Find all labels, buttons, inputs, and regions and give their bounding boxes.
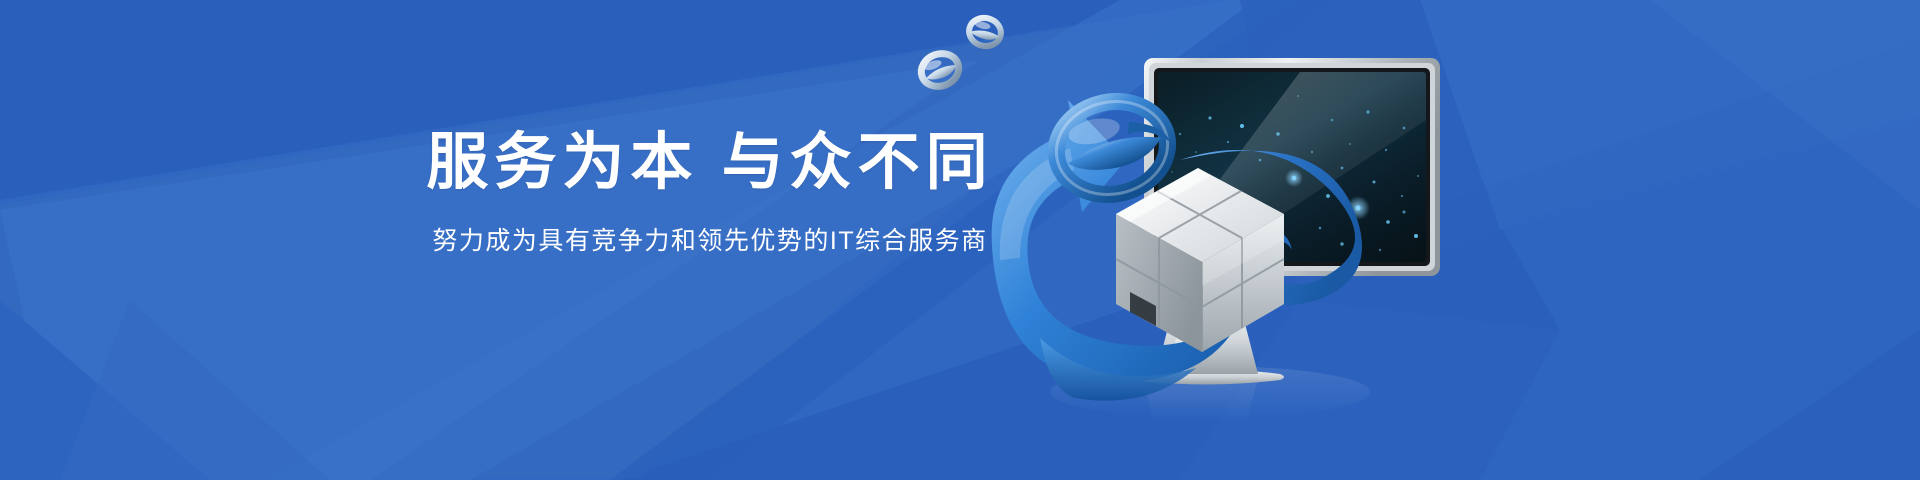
page-title: 服务为本 与众不同 <box>390 126 1030 199</box>
hero-banner: 服务为本 与众不同 努力成为具有竞争力和领先优势的IT综合服务商 <box>0 0 1920 480</box>
e-logo-small-top <box>966 15 1004 50</box>
e-logo-small-upper <box>917 48 964 91</box>
banner-copy: 服务为本 与众不同 努力成为具有竞争力和领先优势的IT综合服务商 <box>390 126 1030 258</box>
banner-subtitle: 努力成为具有竞争力和领先优势的IT综合服务商 <box>390 225 1030 258</box>
